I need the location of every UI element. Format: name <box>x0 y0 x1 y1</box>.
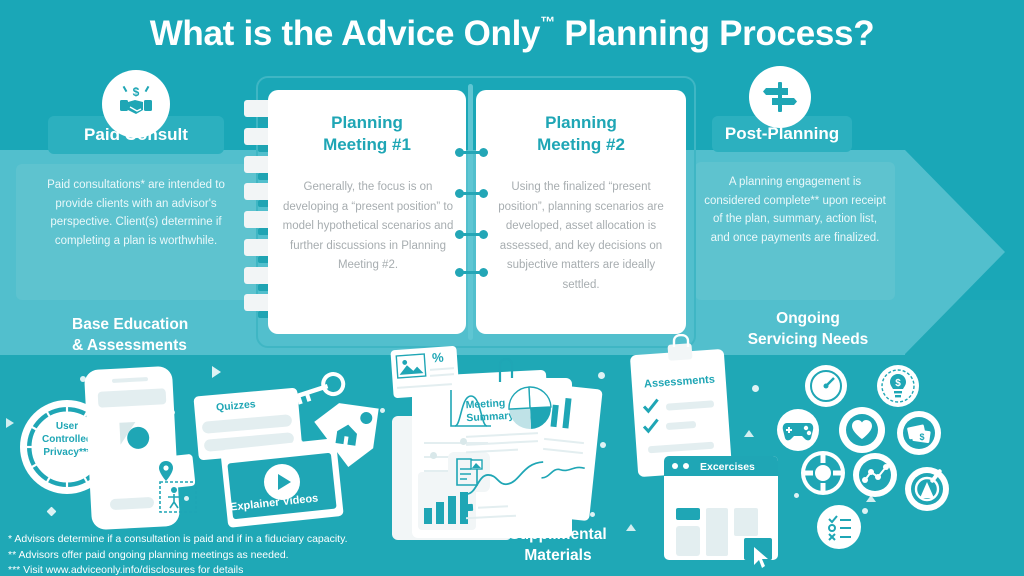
meeting-summary-clip-icon <box>496 358 516 384</box>
infographic-canvas: What is the Advice Only™ Planning Proces… <box>0 0 1024 576</box>
footnotes: * Advisors determine if a consultation i… <box>8 532 347 576</box>
supplemental-line2: Materials <box>524 547 591 564</box>
deco-triangle-3 <box>744 430 754 437</box>
title-main-text: What is the Advice Only <box>150 14 541 53</box>
pm2-title-line2: Meeting #2 <box>537 135 625 154</box>
privacy-line1: User <box>56 421 78 432</box>
deco-triangle-5 <box>626 524 636 531</box>
checklist-icon <box>816 504 862 550</box>
process-arrow-head <box>905 150 1005 354</box>
deco-triangle-1 <box>6 418 14 428</box>
deco-dot-1 <box>80 376 86 382</box>
deco-dot-9 <box>590 512 595 517</box>
lifebuoy-icon <box>800 450 846 496</box>
title-rest-text: Planning Process? <box>555 14 874 53</box>
magnifier-chart-icon <box>904 462 954 512</box>
supp-small-bars <box>546 394 583 431</box>
footnote-one: * Advisors determine if a consultation i… <box>8 532 347 548</box>
deco-triangle-2 <box>212 366 221 378</box>
pm2-title-line1: Planning <box>545 113 617 132</box>
phone-chart-icon <box>113 413 157 455</box>
notebook-spine <box>468 84 473 340</box>
deco-dot-12 <box>794 493 799 498</box>
base-education-label: Base Education & Assessments <box>72 314 272 356</box>
ongoing-line1: Ongoing <box>776 310 840 327</box>
lightbulb-idea-icon: $ <box>876 364 920 408</box>
exercises-panel-1 <box>676 526 700 556</box>
supp-right-sparkline <box>539 460 587 489</box>
exercises-panel-2 <box>706 508 728 556</box>
deco-dot-4 <box>184 496 189 501</box>
phone-home-button <box>110 497 155 510</box>
measure-person-icon <box>158 480 198 514</box>
deco-dot-11 <box>752 385 759 392</box>
connector-dot-right <box>479 230 488 239</box>
deco-dot-5 <box>298 440 303 445</box>
price-tag-icon <box>301 393 386 486</box>
supp-percent-icon: % <box>431 350 444 366</box>
pm1-title-line1: Planning <box>331 113 403 132</box>
phone-corner-dot-2 <box>160 446 164 450</box>
deco-dot-8 <box>600 442 606 448</box>
exercises-panel-3 <box>734 508 758 536</box>
connector-dot-right <box>479 268 488 277</box>
trademark-symbol: ™ <box>540 14 555 31</box>
exercises-window-dot-1 <box>672 463 678 469</box>
planning-meeting-2-title: Planning Meeting #2 <box>476 112 686 156</box>
deco-triangle-4 <box>866 495 876 502</box>
signpost-icon <box>749 66 811 128</box>
supp-photo-icon <box>395 353 427 379</box>
meeting-summary-line1: Meeting <box>465 397 505 411</box>
assessments-check-2 <box>641 417 660 434</box>
pm1-title-line2: Meeting #1 <box>323 135 411 154</box>
supp-bar-2 <box>436 502 444 524</box>
deco-dot-10 <box>380 408 385 413</box>
svg-text:$: $ <box>133 85 140 99</box>
footnote-three: *** Visit www.adviceonly.info/disclosure… <box>8 563 347 576</box>
svg-text:$: $ <box>919 432 924 442</box>
heart-shield-icon <box>838 406 886 454</box>
ongoing-servicing-label: Ongoing Servicing Needs <box>718 308 898 350</box>
planning-meeting-1-body: Generally, the focus is on developing a … <box>282 178 454 276</box>
base-education-line2: & Assessments <box>72 337 187 354</box>
deco-dot-13 <box>862 508 868 514</box>
footnote-two: ** Advisors offer paid ongoing planning … <box>8 548 347 564</box>
page-title: What is the Advice Only™ Planning Proces… <box>0 14 1024 54</box>
gamepad-icon <box>776 408 820 452</box>
privacy-line2: Controlled <box>42 434 92 445</box>
supp-legend-swatch <box>466 504 473 511</box>
supp-bar-1 <box>424 508 432 524</box>
deco-dot-3 <box>170 410 175 415</box>
connector-dot-right <box>479 148 488 157</box>
privacy-line3: Privacy*** <box>43 447 90 458</box>
planning-meeting-2-body: Using the finalized “present position”, … <box>490 178 672 295</box>
money-card-icon: $ <box>896 410 942 456</box>
supp-slider-knob-2 <box>430 452 437 459</box>
deco-dot-7 <box>598 372 605 379</box>
connector-dot-right <box>479 189 488 198</box>
planning-meeting-1-title: Planning Meeting #1 <box>268 112 466 156</box>
scatter-trend-icon <box>852 452 898 498</box>
post-planning-body: A planning engagement is considered comp… <box>702 173 888 247</box>
paid-consult-body: Paid consultations* are intended to prov… <box>32 176 240 250</box>
location-pin-icon <box>158 460 174 482</box>
ongoing-line2: Servicing Needs <box>748 331 869 348</box>
cursor-icon <box>752 546 770 570</box>
exercises-accent-block <box>676 508 700 520</box>
exercises-window-dot-2 <box>683 463 689 469</box>
exercises-label: Excercises <box>700 461 755 473</box>
supp-bar-3 <box>448 496 456 524</box>
base-education-line1: Base Education <box>72 316 188 333</box>
handshake-dollar-icon: $ <box>102 70 170 138</box>
speedometer-icon <box>804 364 848 408</box>
svg-text:$: $ <box>895 378 901 389</box>
clipboard-ring-icon <box>672 334 690 348</box>
assessments-check-1 <box>641 397 660 414</box>
supp-line-chart <box>463 456 549 502</box>
deco-dot-6 <box>120 522 125 527</box>
phone-corner-dot-1 <box>98 410 102 414</box>
